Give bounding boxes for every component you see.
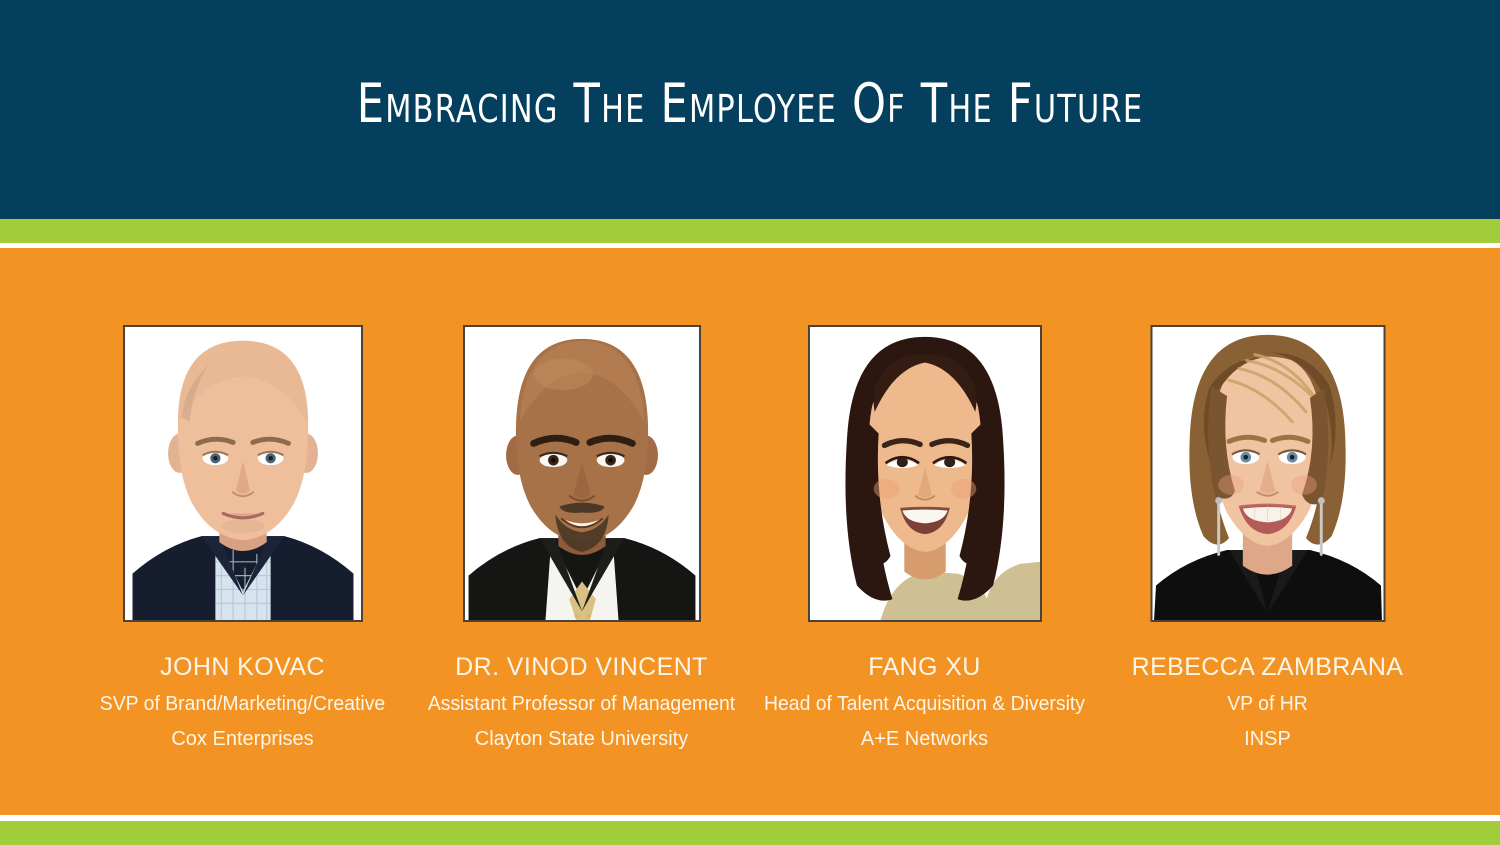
avatar	[123, 325, 363, 622]
panelist-name: DR. VINOD VINCENT	[411, 652, 752, 682]
panelist-name: REBECCA ZAMBRANA	[1097, 652, 1438, 682]
panelist-grid: JOHN KOVAC SVP of Brand/Marketing/Creati…	[0, 248, 1500, 815]
panelist-card: JOHN KOVAC SVP of Brand/Marketing/Creati…	[90, 248, 395, 768]
panelist-organization: A+E Networks	[754, 726, 1095, 752]
panelist-card: DR. VINOD VINCENT Assistant Professor of…	[429, 248, 734, 768]
panelist-card: FANG XU Head of Talent Acquisition & Div…	[772, 248, 1077, 768]
accent-divider-green-top	[0, 219, 1500, 243]
avatar	[808, 325, 1042, 622]
panelist-title: Assistant Professor of Management	[412, 691, 751, 717]
presentation-slide: Embracing The Employee Of The Future	[0, 0, 1500, 845]
panelist-organization: Clayton State University	[411, 726, 752, 752]
panelist-name: FANG XU	[754, 652, 1095, 682]
panelist-card: REBECCA ZAMBRANA VP of HR INSP	[1115, 248, 1420, 768]
panelist-title: Head of Talent Acquisition & Diversity	[755, 691, 1094, 717]
avatar	[1150, 325, 1385, 622]
panelist-title: SVP of Brand/Marketing/Creative	[73, 691, 412, 717]
page-title: Embracing The Employee Of The Future	[150, 72, 1350, 136]
panelist-title: VP of HR	[1098, 691, 1437, 717]
panelist-organization: Cox Enterprises	[72, 726, 413, 752]
panelist-organization: INSP	[1097, 726, 1438, 752]
panelist-name: JOHN KOVAC	[72, 652, 413, 682]
accent-divider-green-bottom	[0, 821, 1500, 845]
avatar	[463, 325, 701, 622]
